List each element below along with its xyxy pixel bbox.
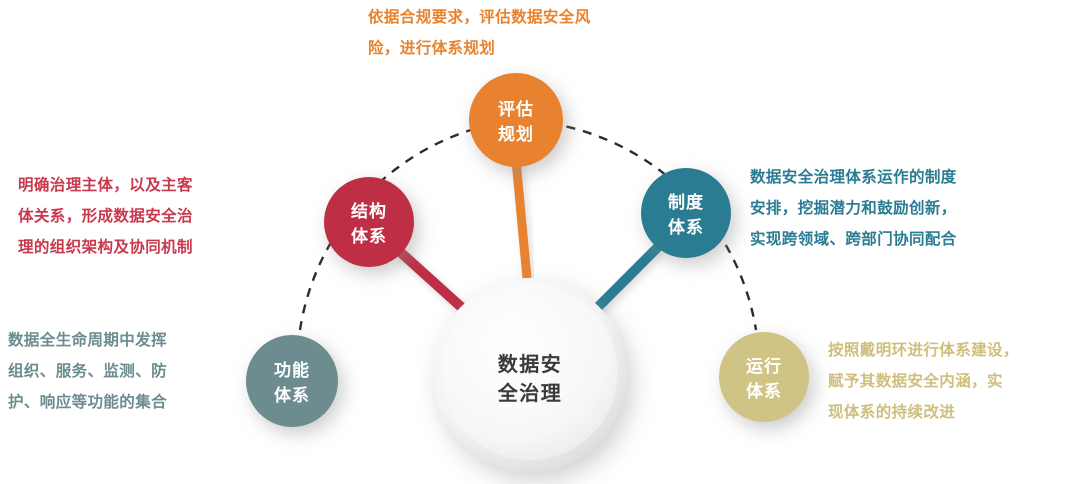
node-operation-system[interactable]: 运行 体系 [719,332,809,422]
assessment-planning-note: 依据合规要求，评估数据安全风 险，进行体系规划 [368,2,698,64]
node-operation-system-label-line2: 体系 [746,381,782,401]
operation-system-note: 按照戴明环进行体系建设， 赋予其数据安全内涵，实 现体系的持续改进 [828,335,1078,428]
node-assessment-planning-label-line2: 规划 [498,124,534,144]
node-structure-system-label-line1: 结构 [351,201,387,221]
node-structure-system-label-line2: 体系 [351,226,387,246]
node-institution-system-label-line2: 体系 [668,217,704,237]
spoke-assessment-planning [516,160,527,278]
center-hub-label-line1: 数据安 [498,352,563,376]
node-assessment-planning-label-line1: 评估 [498,99,534,119]
node-function-system[interactable]: 功能 体系 [246,335,338,427]
center-hub-label-line2: 全治理 [497,381,563,405]
node-institution-system[interactable]: 制度 体系 [641,168,731,258]
diagram-canvas: 数据安 全治理 评估 规划 结构 体系 制度 体系 功能 体系 [0,0,1080,484]
node-assessment-planning[interactable]: 评估 规划 [469,73,563,167]
spoke-structure-system [398,250,470,315]
node-operation-system-label-line1: 运行 [746,356,782,376]
center-hub[interactable]: 数据安 全治理 [433,278,627,472]
function-system-note: 数据全生命周期中发挥 组织、服务、监测、防 护、响应等功能的集合 [8,325,238,418]
node-function-system-label-line1: 功能 [274,360,310,380]
institution-system-note: 数据安全治理体系运作的制度 安排，挖掘潜力和鼓励创新， 实现跨领域、跨部门协同配… [750,162,1070,255]
spoke-institution-system [592,245,660,313]
structure-system-note: 明确治理主体，以及主客 体关系，形成数据安全治 理的组织架构及协同机制 [18,170,278,263]
node-structure-system[interactable]: 结构 体系 [324,177,414,267]
node-institution-system-label-line1: 制度 [668,192,704,212]
node-function-system-label-line2: 体系 [274,385,310,405]
